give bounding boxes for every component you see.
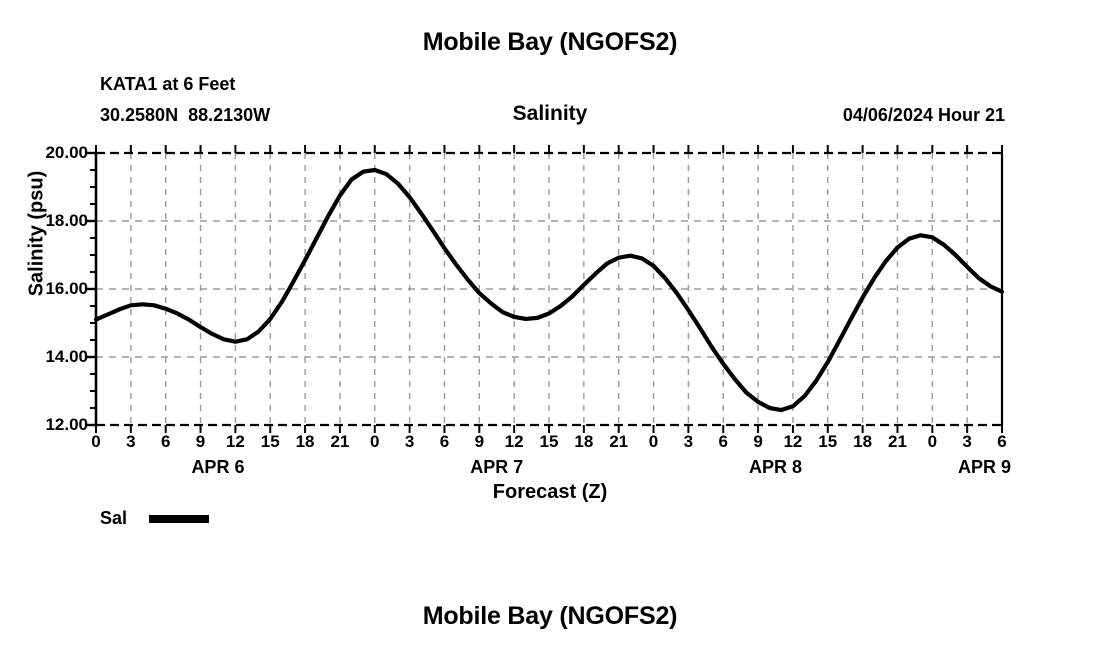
salinity-forecast-chart-page: Mobile Bay (NGOFS2) KATA1 at 6 Feet 30.2…: [0, 0, 1100, 650]
x-tick-label: 0: [360, 432, 390, 452]
y-tick-label: 14.00: [18, 347, 88, 367]
x-tick-label: 21: [325, 432, 355, 452]
legend-swatch-sal: [149, 515, 209, 523]
x-tick-label: 0: [639, 432, 669, 452]
x-tick-label: 0: [917, 432, 947, 452]
x-tick-label: 6: [151, 432, 181, 452]
chart-legend: Sal: [100, 508, 209, 529]
x-tick-label: 12: [220, 432, 250, 452]
y-tick-label: 20.00: [18, 143, 88, 163]
x-tick-label: 3: [116, 432, 146, 452]
x-tick-label: 9: [186, 432, 216, 452]
x-tick-label: 21: [604, 432, 634, 452]
page-title-bottom: Mobile Bay (NGOFS2): [0, 602, 1100, 631]
y-tick-label: 12.00: [18, 415, 88, 435]
day-label: APR 6: [158, 457, 278, 478]
x-tick-label: 6: [429, 432, 459, 452]
x-tick-label: 3: [952, 432, 982, 452]
x-axis-title: Forecast (Z): [400, 481, 700, 504]
x-tick-label: 15: [813, 432, 843, 452]
legend-label-sal: Sal: [100, 508, 127, 529]
x-tick-label: 9: [743, 432, 773, 452]
x-tick-label: 12: [778, 432, 808, 452]
x-tick-label: 0: [81, 432, 111, 452]
x-tick-label: 18: [569, 432, 599, 452]
x-tick-label: 18: [848, 432, 878, 452]
y-tick-label: 16.00: [18, 279, 88, 299]
day-label: APR 7: [437, 457, 557, 478]
x-tick-label: 6: [708, 432, 738, 452]
x-tick-label: 6: [987, 432, 1017, 452]
day-label: APR 8: [716, 457, 836, 478]
x-tick-label: 15: [534, 432, 564, 452]
y-tick-label: 18.00: [18, 211, 88, 231]
plot-area: [0, 0, 1100, 650]
plot-svg: [0, 0, 1100, 650]
x-tick-label: 3: [673, 432, 703, 452]
x-tick-label: 12: [499, 432, 529, 452]
x-tick-label: 18: [290, 432, 320, 452]
x-tick-label: 3: [395, 432, 425, 452]
x-tick-label: 21: [882, 432, 912, 452]
x-tick-label: 9: [464, 432, 494, 452]
x-tick-label: 15: [255, 432, 285, 452]
day-label: APR 9: [925, 457, 1045, 478]
